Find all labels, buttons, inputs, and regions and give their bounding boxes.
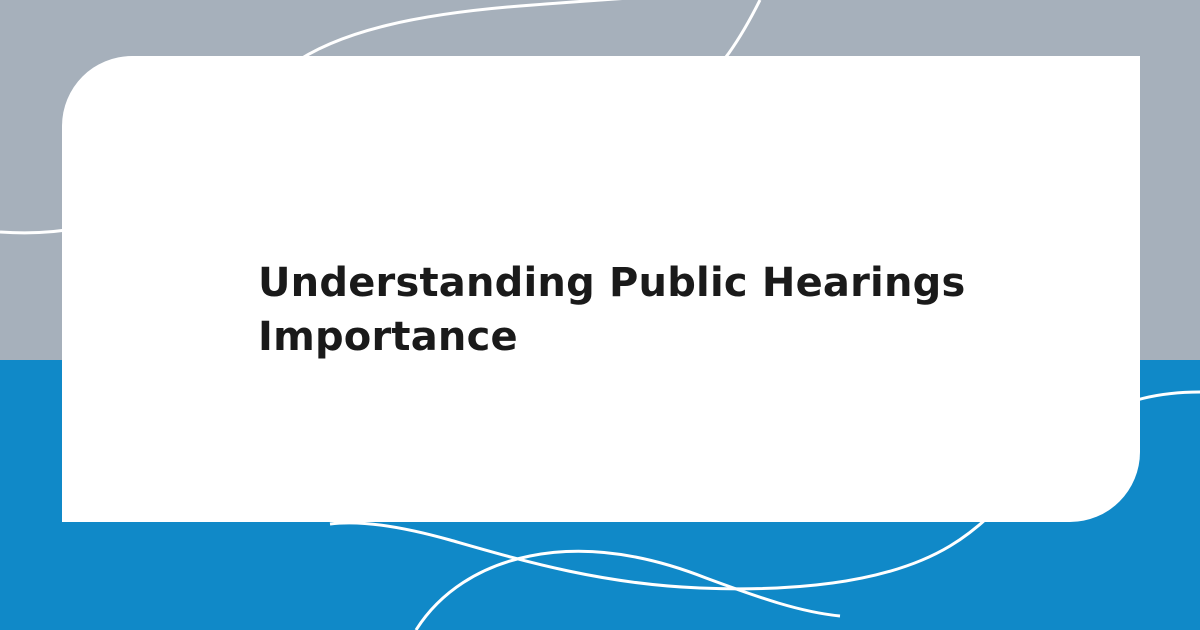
poster-canvas: Understanding Public Hearings Importance xyxy=(0,0,1200,630)
content-card: Understanding Public Hearings Importance xyxy=(62,56,1140,522)
page-title: Understanding Public Hearings Importance xyxy=(258,256,1018,364)
title-container: Understanding Public Hearings Importance xyxy=(258,256,1018,364)
wavy-line-bottom-secondary xyxy=(416,551,840,630)
